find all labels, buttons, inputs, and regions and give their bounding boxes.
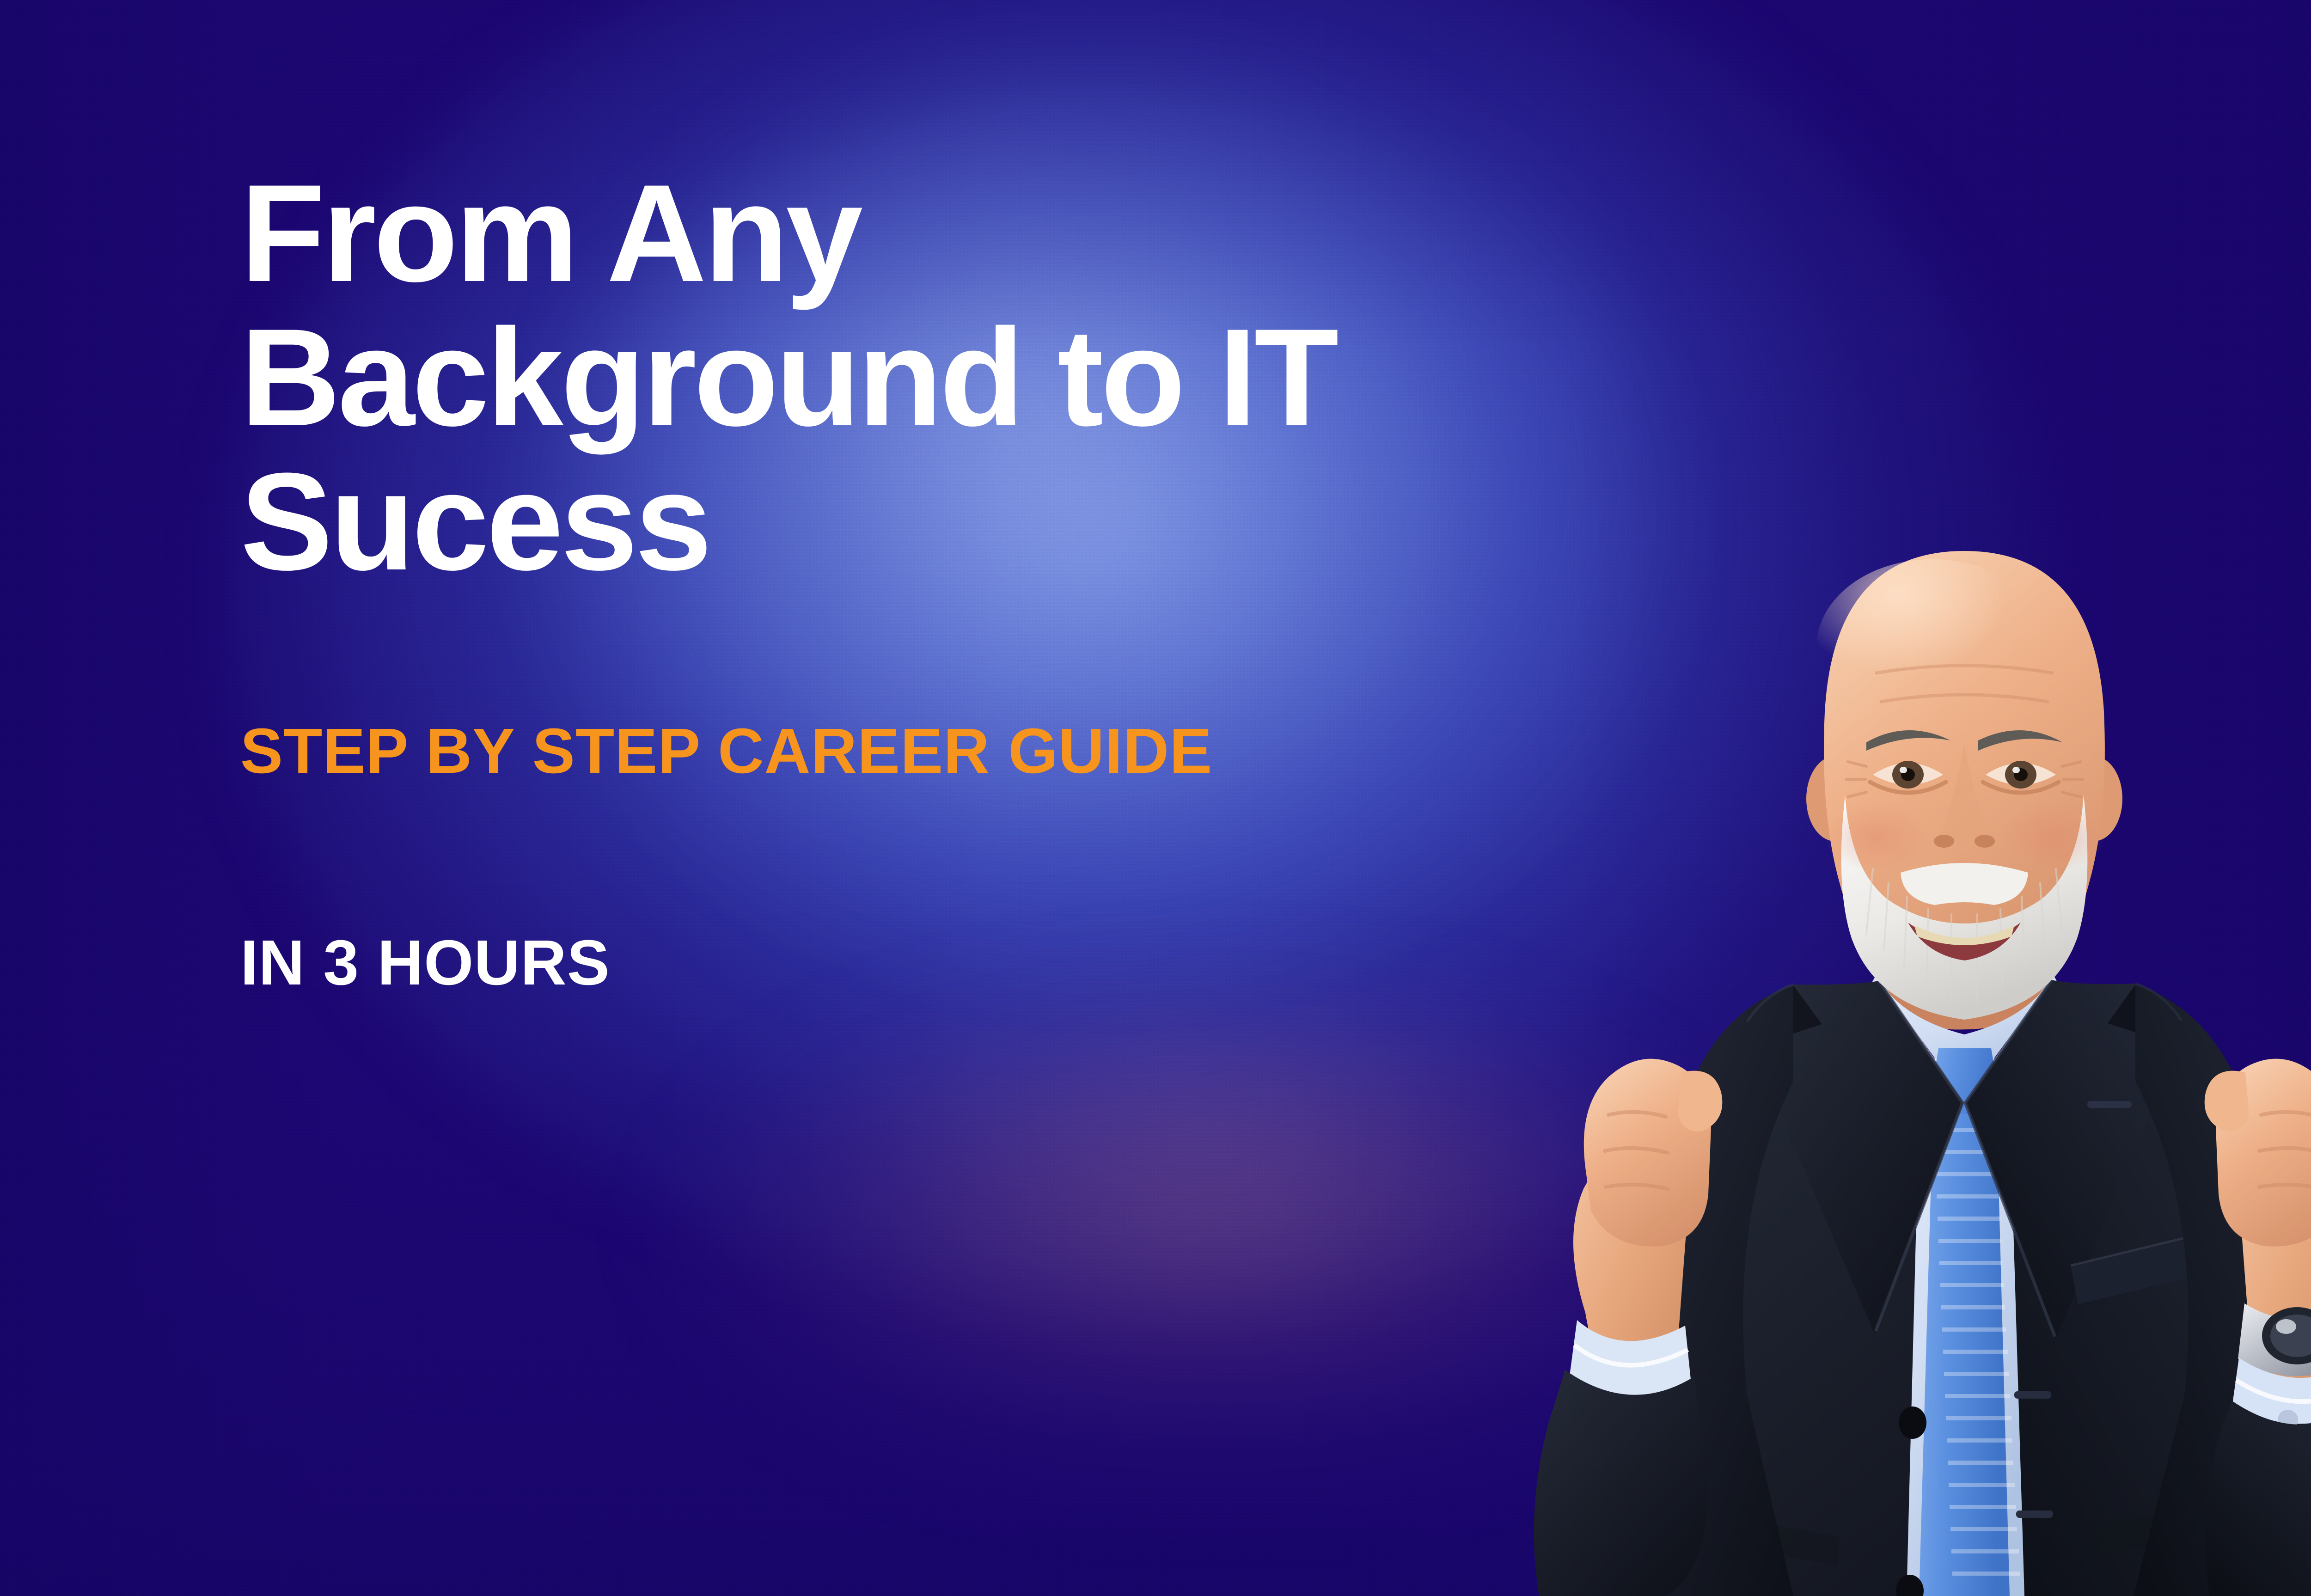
duration-callout: IN 3 HOURS xyxy=(240,783,1858,995)
headline-block: From Any Background to IT Sucess STEP BY… xyxy=(240,161,1858,995)
poster-canvas: From Any Background to IT Sucess STEP BY… xyxy=(0,0,2311,1596)
left-fist xyxy=(1584,1059,1723,1247)
page-title: From Any Background to IT Sucess xyxy=(240,161,1858,593)
subtitle-tagline: STEP BY STEP CAREER GUIDE xyxy=(240,593,1858,783)
